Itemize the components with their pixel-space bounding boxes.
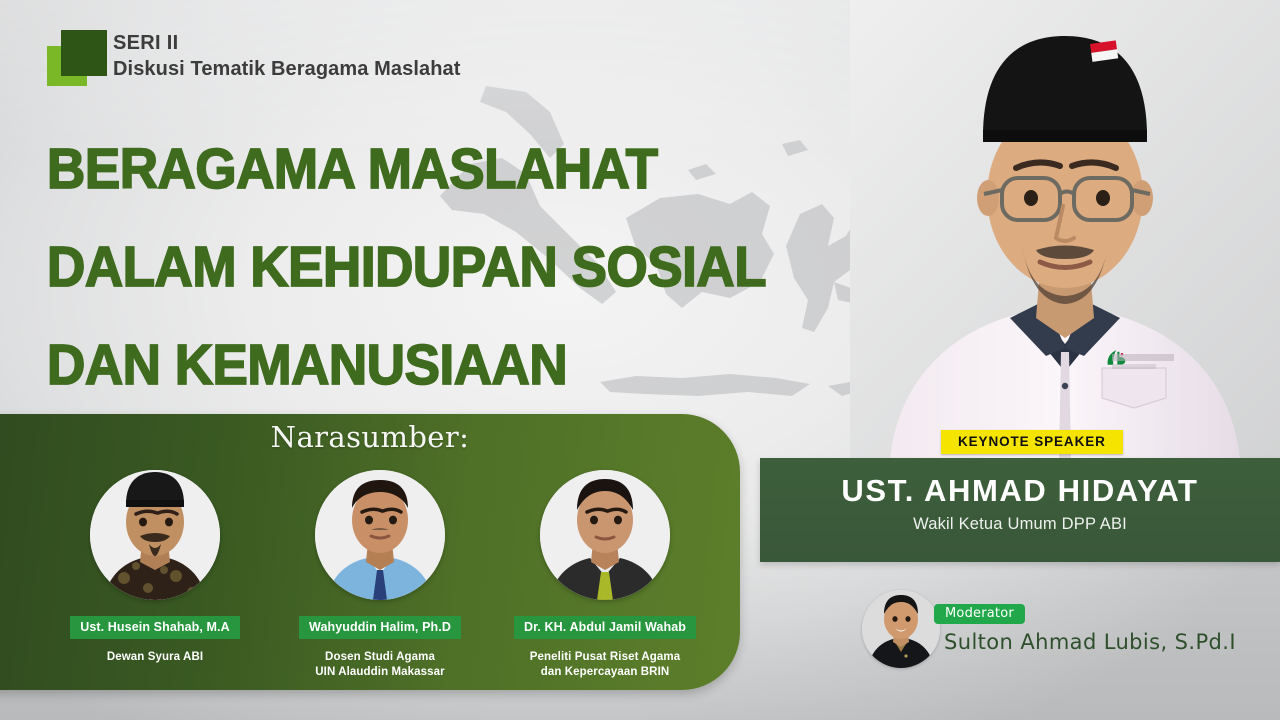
title-line-3: DAN KEMANUSIAAN (47, 316, 698, 414)
list-item: Wahyuddin Halim, Ph.D Dosen Studi Agama … (285, 470, 475, 680)
list-item: Ust. Husein Shahab, M.A Dewan Syura ABI (60, 470, 250, 680)
speaker-name-badge: Dr. KH. Abdul Jamil Wahab (514, 616, 696, 639)
speaker-affiliation-line2: UIN Alauddin Makassar (315, 666, 445, 678)
keynote-speaker-bar: UST. AHMAD HIDAYAT Wakil Ketua Umum DPP … (760, 458, 1280, 562)
speaker-portrait-3 (540, 470, 670, 600)
moderator-name: Sulton Ahmad Lubis, S.Pd.I (944, 630, 1236, 654)
series-heading: SERI II Diskusi Tematik Beragama Maslaha… (113, 31, 461, 83)
poster-canvas: SERI II Diskusi Tematik Beragama Maslaha… (0, 0, 1280, 720)
title-line-2: DALAM KEHIDUPAN SOSIAL (47, 218, 698, 316)
moderator-portrait (862, 590, 940, 668)
speaker-affiliation: Peneliti Pusat Riset Agama dan Kepercaya… (510, 650, 700, 680)
keynote-speaker-portrait (850, 0, 1280, 460)
series-label: SERI II (113, 31, 461, 56)
speaker-affiliation-line1: Dosen Studi Agama (325, 651, 435, 663)
speaker-affiliation-line1: Peneliti Pusat Riset Agama (530, 651, 680, 663)
keynote-speaker-role: Wakil Ketua Umum DPP ABI (760, 515, 1280, 534)
keynote-speaker-badge: KEYNOTE SPEAKER (941, 430, 1123, 454)
moderator-text: Moderator Sulton Ahmad Lubis, S.Pd.I (934, 604, 1236, 654)
page-title: BERAGAMA MASLAHAT DALAM KEHIDUPAN SOSIAL… (47, 120, 747, 414)
speaker-affiliation: Dosen Studi Agama UIN Alauddin Makassar (285, 650, 475, 680)
speaker-affiliation: Dewan Syura ABI (60, 650, 250, 665)
speaker-name-badge: Ust. Husein Shahab, M.A (70, 616, 240, 639)
moderator-block: Moderator Sulton Ahmad Lubis, S.Pd.I (862, 590, 1236, 668)
two-squares-icon (47, 28, 107, 90)
list-item: Dr. KH. Abdul Jamil Wahab Peneliti Pusat… (510, 470, 700, 680)
narasumber-list: Ust. Husein Shahab, M.A Dewan Syura ABI (60, 470, 700, 680)
title-line-1: BERAGAMA MASLAHAT (47, 120, 698, 218)
square-dark (61, 30, 107, 76)
speaker-portrait-2 (315, 470, 445, 600)
narasumber-title: Narasumber: (0, 420, 740, 454)
speaker-name-badge: Wahyuddin Halim, Ph.D (299, 616, 461, 639)
speaker-portrait-1 (90, 470, 220, 600)
speaker-affiliation-line2: dan Kepercayaan BRIN (541, 666, 670, 678)
keynote-speaker-name: UST. AHMAD HIDAYAT (760, 473, 1280, 509)
speaker-affiliation-line1: Dewan Syura ABI (107, 651, 203, 663)
moderator-badge: Moderator (934, 604, 1025, 624)
series-subtitle: Diskusi Tematik Beragama Maslahat (113, 56, 461, 83)
